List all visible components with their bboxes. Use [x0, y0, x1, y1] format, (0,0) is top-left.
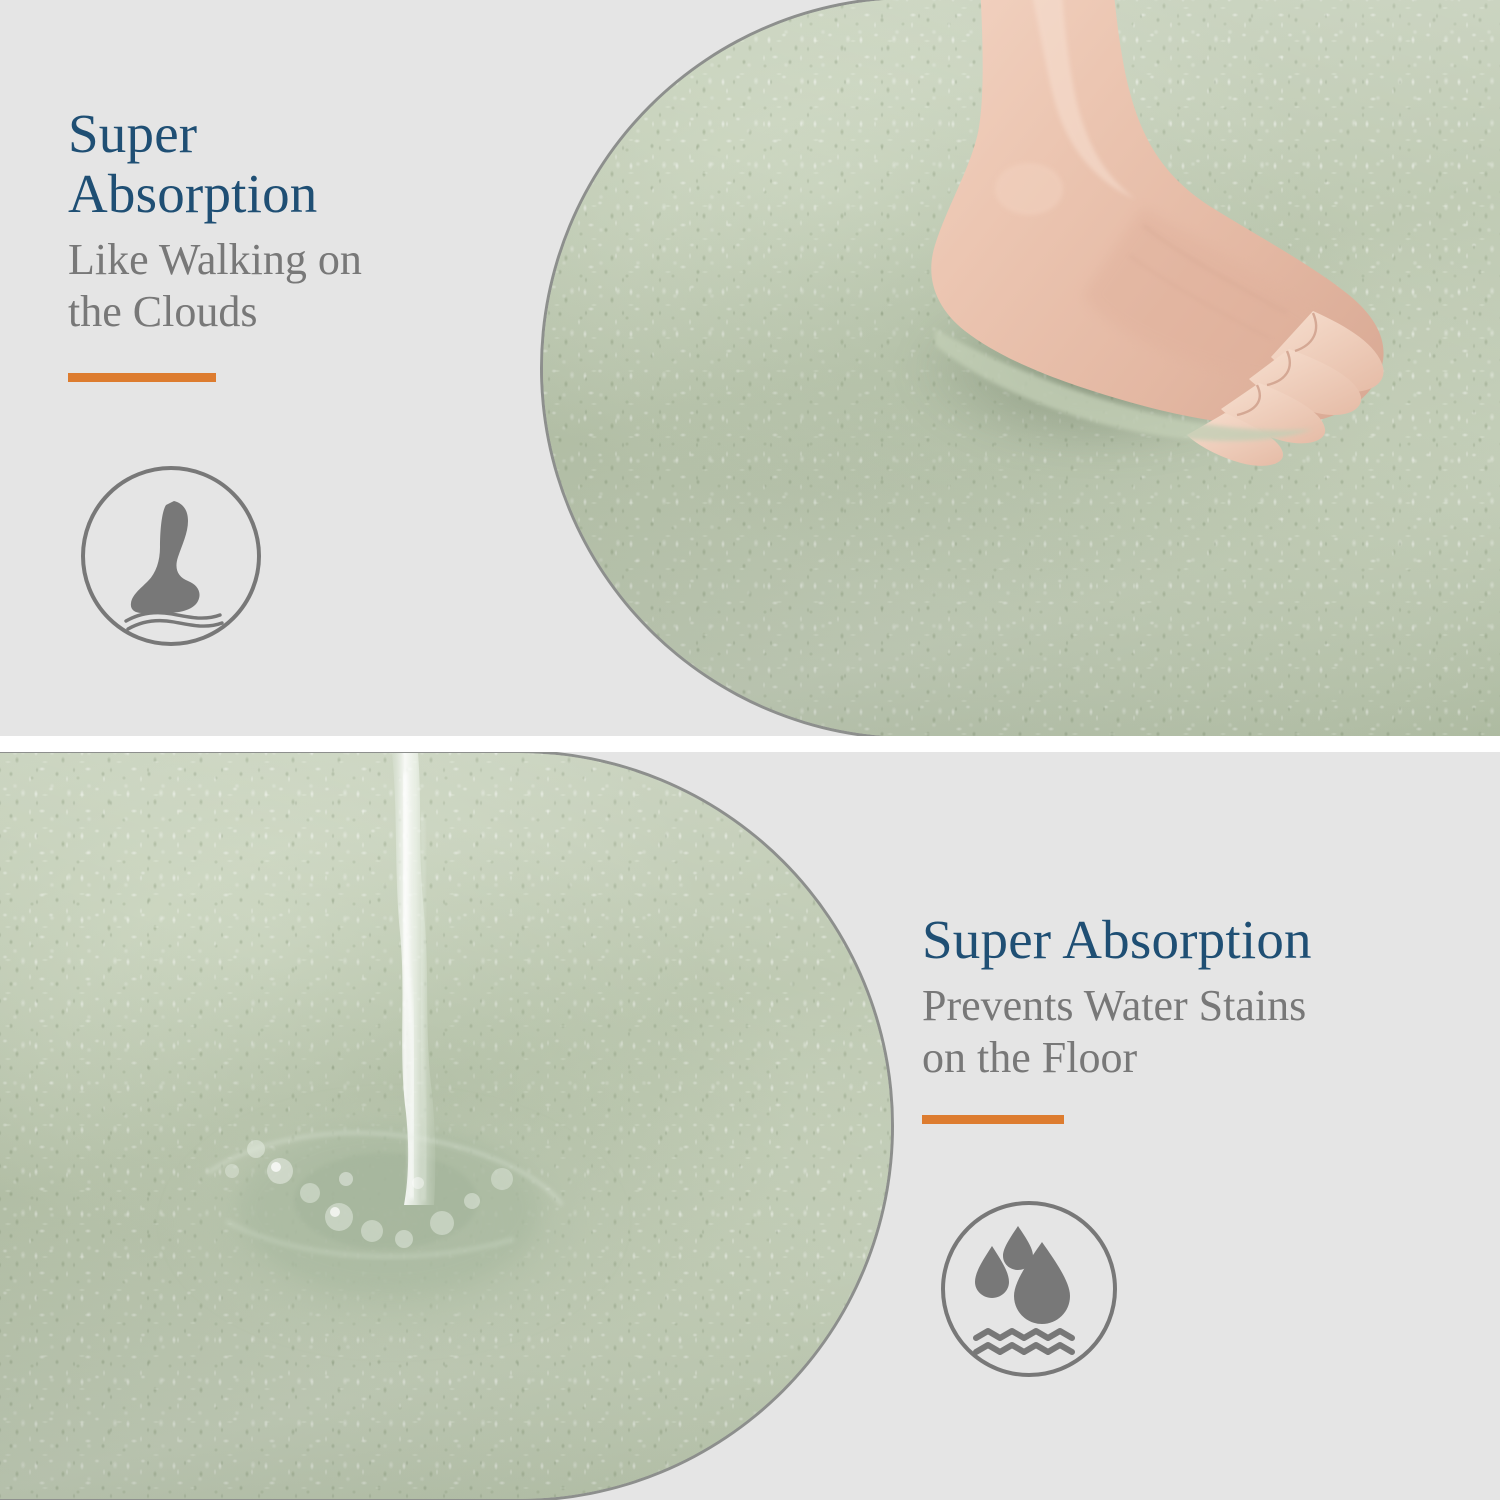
bottom-subheading: Prevents Water Stainson the Floor	[922, 980, 1482, 1085]
subhead-line-2: the Clouds	[68, 287, 257, 336]
subhead-line-1: Like Walking on	[68, 235, 362, 284]
water-stream	[0, 753, 894, 1500]
foot-on-rug-photo	[540, 0, 1500, 736]
bottom-subhead-line-1: Prevents Water Stains	[922, 981, 1306, 1030]
product-feature-banner: SuperAbsorption Like Walking onthe Cloud…	[0, 0, 1500, 1500]
accent-bar-top	[68, 373, 216, 382]
foot-softness-icon	[78, 463, 264, 649]
bottom-subhead-line-2: on the Floor	[922, 1033, 1137, 1082]
bottom-text-block: Super Absorption Prevents Water Stainson…	[922, 910, 1482, 1124]
bare-foot	[843, 0, 1403, 559]
water-poured-on-rug-photo	[0, 752, 894, 1500]
headline-line-1: Super	[68, 103, 197, 164]
water-droplets-icon	[938, 1198, 1120, 1380]
accent-bar-bottom	[922, 1115, 1064, 1124]
feature-panel-bottom: Super Absorption Prevents Water Stainson…	[0, 752, 1500, 1500]
page-title: SuperAbsorption	[68, 104, 488, 224]
feature-panel-top: SuperAbsorption Like Walking onthe Cloud…	[0, 0, 1500, 736]
top-text-block: SuperAbsorption Like Walking onthe Cloud…	[68, 104, 488, 382]
top-subheading: Like Walking onthe Clouds	[68, 234, 488, 339]
bottom-page-title: Super Absorption	[922, 910, 1482, 970]
headline-line-2: Absorption	[68, 163, 318, 224]
